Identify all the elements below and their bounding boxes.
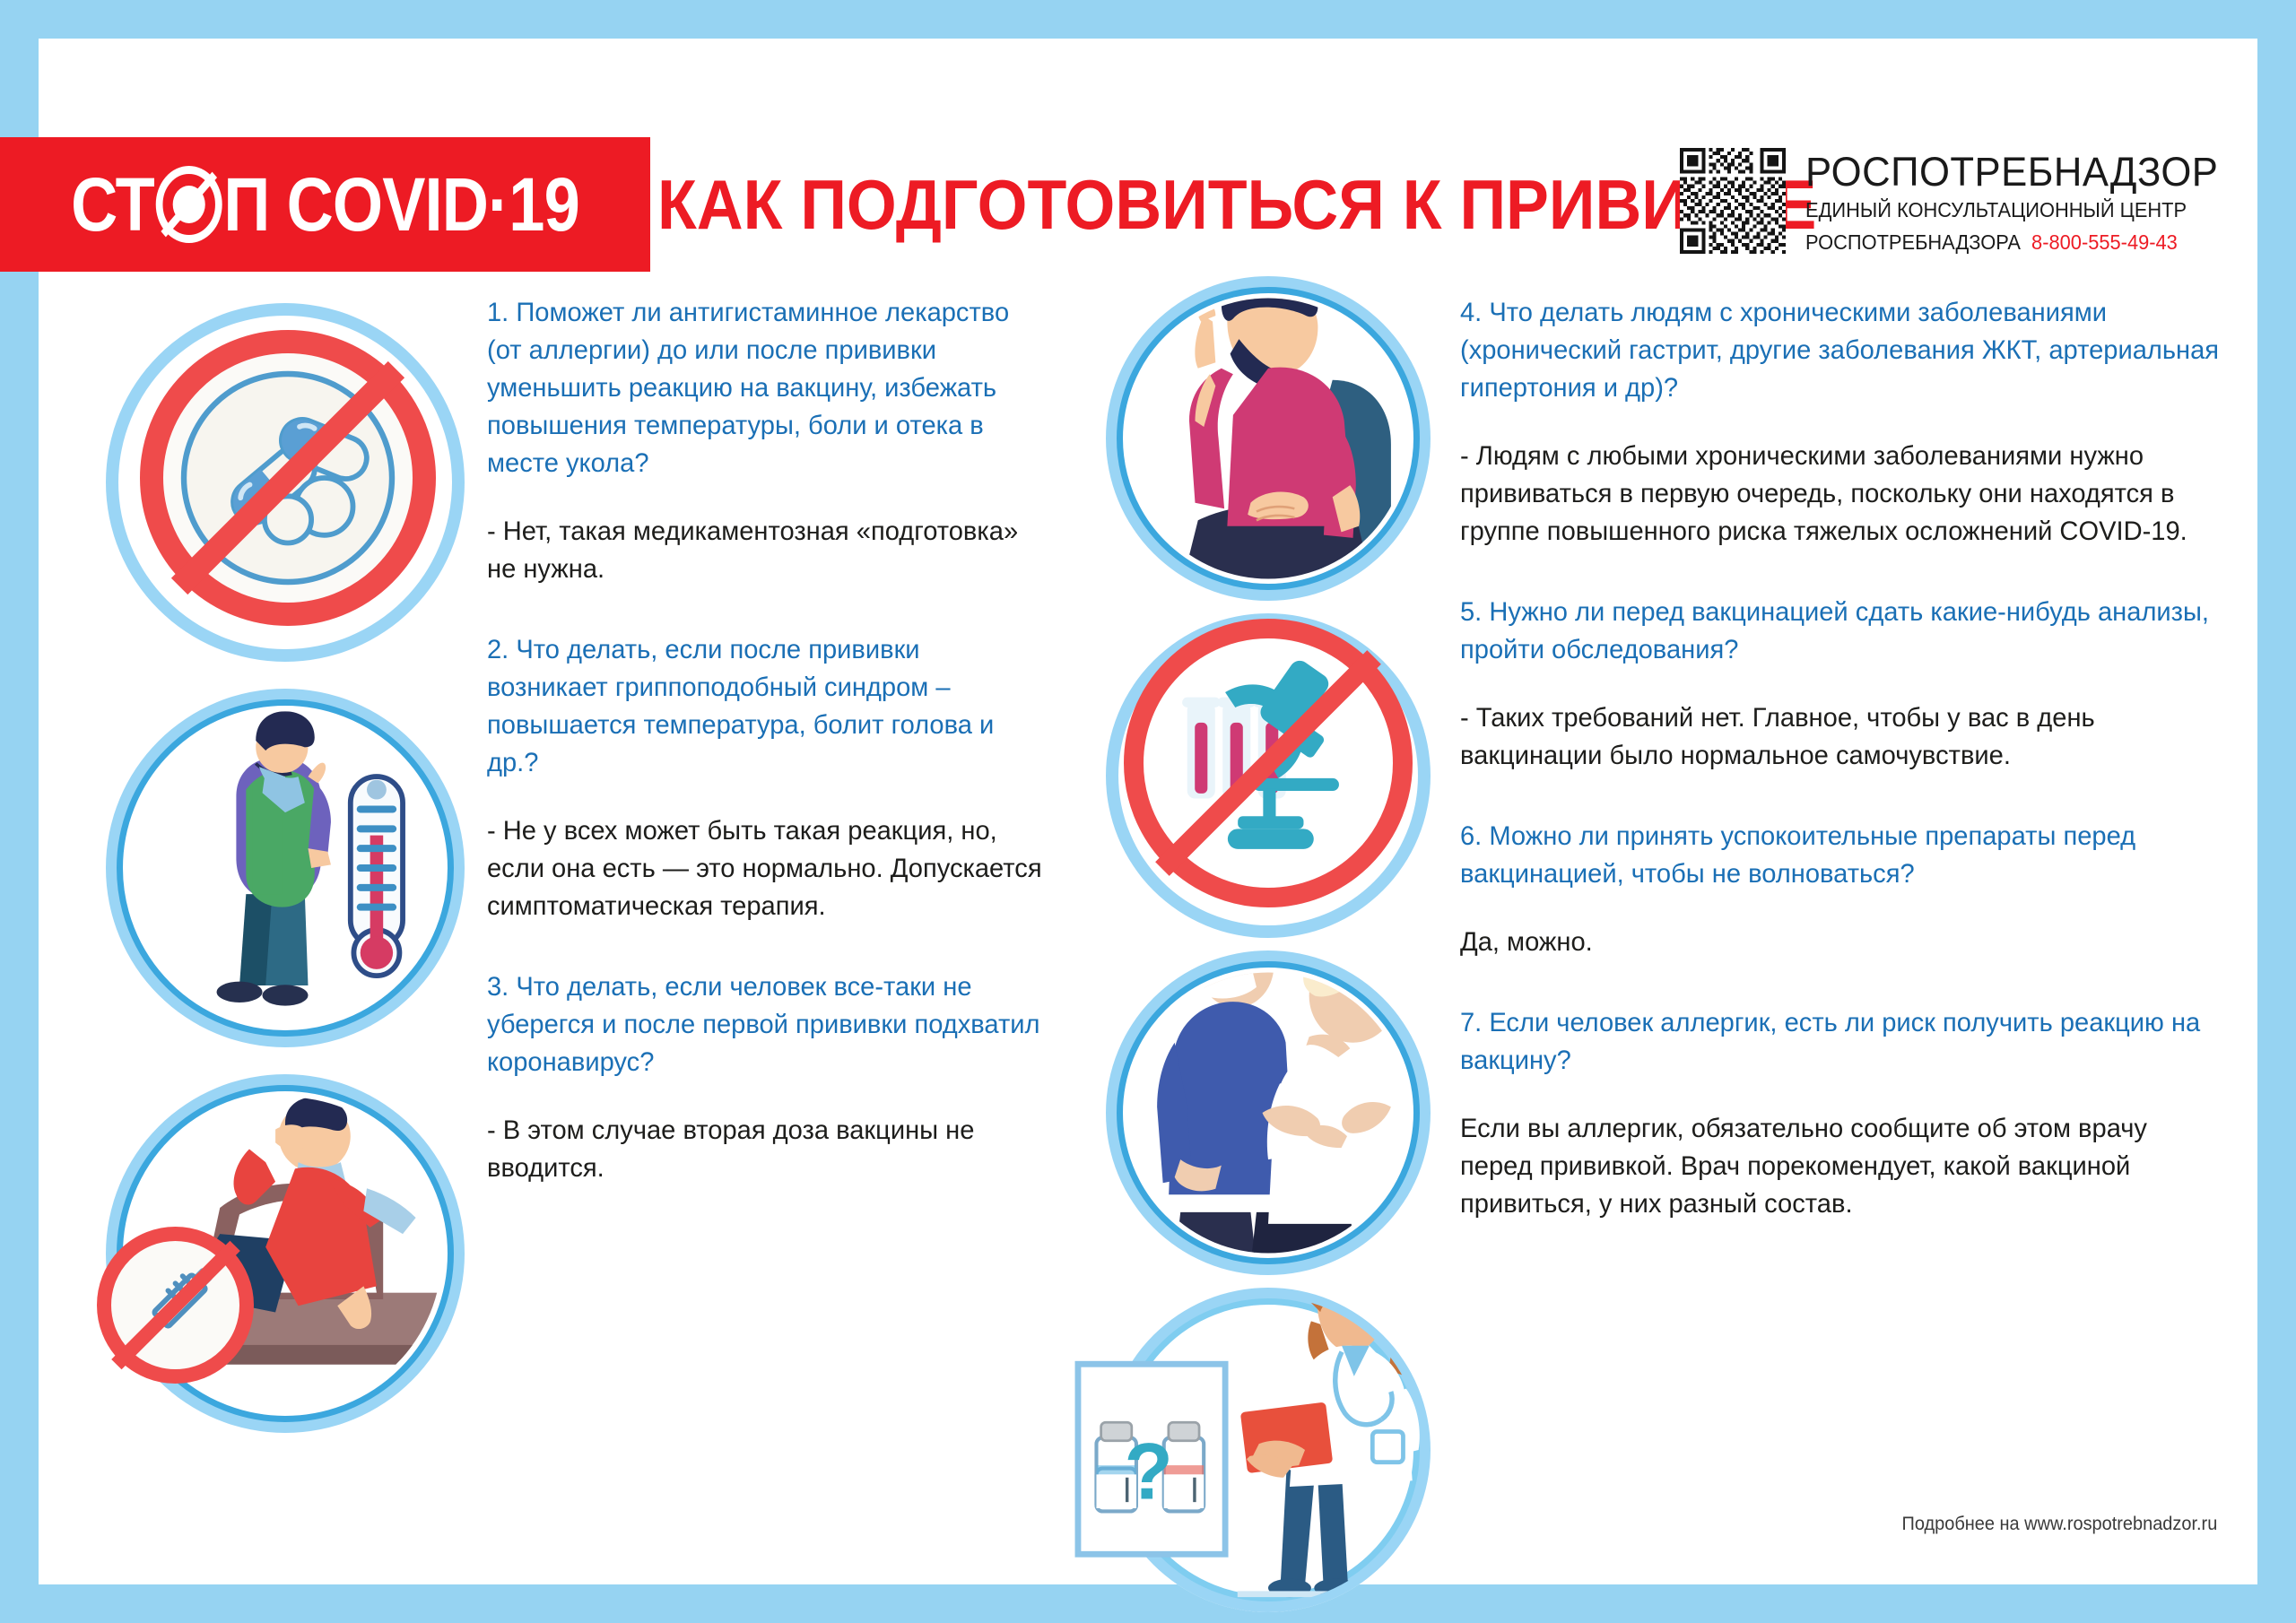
- left-illustration-column: [106, 303, 491, 1433]
- man-in-bed-no-syringe-icon: [106, 1074, 465, 1433]
- question-6: 6. Можно ли принять успокоительные препа…: [1460, 818, 2226, 893]
- question-3: 3. Что делать, если человек все-таки не …: [487, 968, 1044, 1081]
- left-text-column: 1. Поможет ли антигистаминное лекарство …: [487, 294, 1061, 1230]
- qa-item-4: 4. Что делать людям с хроническими забол…: [1460, 294, 2249, 551]
- hotline-phone[interactable]: 8-800-555-49-43: [2031, 230, 2178, 254]
- question-1: 1. Поможет ли антигистаминное лекарство …: [487, 294, 1044, 482]
- right-text-column: 4. Что делать людям с хроническими забол…: [1460, 294, 2249, 1266]
- stop-badge-suffix: П COVID·19: [223, 162, 579, 247]
- answer-3: - В этом случае вторая доза вакцины не в…: [487, 1112, 1044, 1187]
- question-2: 2. Что делать, если после прививки возни…: [487, 631, 1044, 782]
- no-pills-icon: [106, 303, 465, 662]
- qa-item-7: 7. Если человек аллергик, есть ли риск п…: [1460, 1004, 2249, 1223]
- brand-name: РОСПОТРЕБНАДЗОР: [1805, 152, 2218, 192]
- question-4: 4. Что делать людям с хроническими забол…: [1460, 294, 2226, 407]
- stop-covid-badge-text: СТП COVID·19: [71, 161, 579, 248]
- qr-code-icon: [1680, 148, 1786, 254]
- doctor-vaccine-choice-icon: ?: [1106, 1288, 1431, 1612]
- stop-covid-badge: СТП COVID·19: [0, 137, 650, 272]
- no-microscope-icon: [1106, 613, 1431, 938]
- ban-overlay: [140, 330, 436, 626]
- man-with-thermometer-icon: [106, 689, 465, 1047]
- poster-root: СТП COVID·19 КАК ПОДГОТОВИТЬСЯ К ПРИВИВК…: [0, 0, 2296, 1623]
- answer-1: - Нет, такая медикаментозная «подготовка…: [487, 513, 1044, 588]
- logo-text-group: РОСПОТРЕБНАДЗОР ЕДИНЫЙ КОНСУЛЬТАЦИОННЫЙ …: [1805, 148, 2231, 256]
- poster-header: СТП COVID·19 КАК ПОДГОТОВИТЬСЯ К ПРИВИВК…: [39, 92, 2257, 263]
- middle-illustration-column: ?: [1106, 276, 1483, 1612]
- qa-item-3: 3. Что делать, если человек все-таки не …: [487, 968, 1061, 1187]
- rospotrebnadzor-logo-block: РОСПОТРЕБНАДЗОР ЕДИНЫЙ КОНСУЛЬТАЦИОННЫЙ …: [1680, 148, 2231, 256]
- elderly-couple-icon: [1106, 950, 1431, 1275]
- consult-center-line2: РОСПОТРЕБНАДЗОРА 8-800-555-49-43: [1805, 230, 2210, 256]
- svg-text:?: ?: [1124, 1428, 1172, 1516]
- bearded-man-stomach-pain-icon: [1106, 276, 1431, 601]
- qa-item-1: 1. Поможет ли антигистаминное лекарство …: [487, 294, 1061, 588]
- qa-item-6: 6. Можно ли принять успокоительные препа…: [1460, 818, 2249, 961]
- virus-circle-icon: [156, 166, 222, 243]
- poster-sheet: СТП COVID·19 КАК ПОДГОТОВИТЬСЯ К ПРИВИВК…: [39, 39, 2257, 1584]
- consult-center-org: РОСПОТРЕБНАДЗОРА: [1805, 230, 2021, 254]
- qa-item-5: 5. Нужно ли перед вакцинацией сдать каки…: [1460, 594, 2249, 775]
- footer-note: Подробнее на www.rospotrebnadzor.ru: [1901, 1514, 2217, 1535]
- stop-badge-prefix: СТ: [71, 162, 154, 247]
- qa-item-2: 2. Что делать, если после прививки возни…: [487, 631, 1061, 925]
- answer-6: Да, можно.: [1460, 924, 2226, 961]
- answer-2: - Не у всех может быть такая реакция, но…: [487, 812, 1044, 925]
- consult-center-line1: ЕДИНЫЙ КОНСУЛЬТАЦИОННЫЙ ЦЕНТР: [1805, 197, 2210, 224]
- question-7: 7. Если человек аллергик, есть ли риск п…: [1460, 1004, 2226, 1080]
- answer-5: - Таких требований нет. Главное, чтобы у…: [1460, 699, 2226, 775]
- answer-7: Если вы аллергик, обязательно сообщите о…: [1460, 1110, 2226, 1223]
- ban-overlay-microscope: [1124, 619, 1413, 907]
- no-syringe-ban-overlay: [97, 1227, 254, 1384]
- answer-4: - Людям с любыми хроническими заболевани…: [1460, 438, 2226, 551]
- question-5: 5. Нужно ли перед вакцинацией сдать каки…: [1460, 594, 2226, 669]
- page-title: КАК ПОДГОТОВИТЬСЯ К ПРИВИВКЕ: [657, 164, 1816, 246]
